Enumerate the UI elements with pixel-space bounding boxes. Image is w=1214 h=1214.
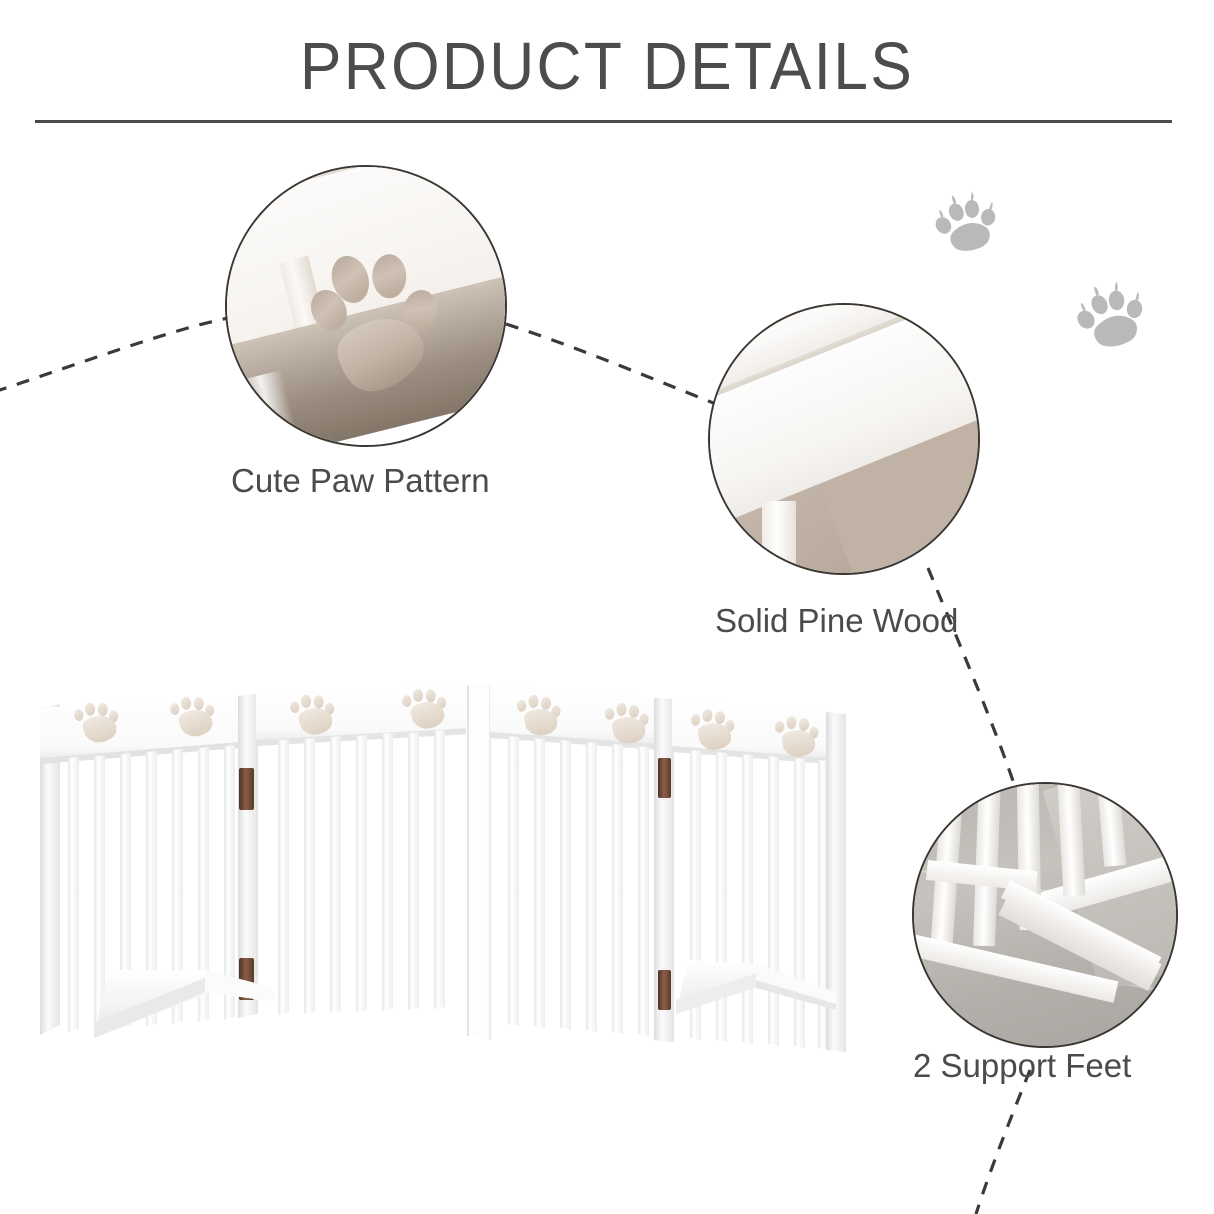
- title-divider: [35, 120, 1172, 123]
- callout-circle-support-feet: [912, 782, 1178, 1048]
- gate-right-wing: [490, 684, 846, 1052]
- callout-label-cute-paw-pattern: Cute Paw Pattern: [231, 463, 490, 499]
- paw-cutout-shape: [227, 167, 507, 447]
- callout-circle-solid-pine-wood: [708, 303, 980, 575]
- callout-circle-cute-paw-pattern: [225, 165, 507, 447]
- gate-support-foot-right: [676, 960, 836, 1014]
- callout-label-solid-pine-wood: Solid Pine Wood: [715, 603, 958, 639]
- callout-label-support-feet: 2 Support Feet: [913, 1048, 1131, 1084]
- gate-hinge-top-right: [658, 758, 671, 798]
- connector-left-to-paw: [0, 318, 228, 392]
- gate-panel2-slats: [278, 730, 445, 1015]
- product-image-folding-pet-gate: [0, 640, 880, 1140]
- gate-left-wing: [40, 684, 470, 1038]
- infographic-canvas: PRODUCT DETAILS: [0, 0, 1214, 1214]
- gate-panel3-slats: [508, 736, 649, 1036]
- gate-hinge-top-left: [239, 768, 254, 810]
- gate-hinge-bottom-right: [658, 970, 671, 1010]
- wood-photo-slat: [762, 501, 796, 575]
- gate-center-fold: [466, 684, 492, 1040]
- paw-print-2: [1068, 276, 1152, 354]
- paw-print-1: [928, 187, 1004, 257]
- page-title: PRODUCT DETAILS: [42, 32, 1171, 102]
- gate-center-stile: [466, 684, 492, 1040]
- connector-feet-to-bottom: [976, 1070, 1030, 1214]
- connector-paw-to-wood: [506, 324, 716, 404]
- gate-panel4-slats: [690, 750, 829, 1050]
